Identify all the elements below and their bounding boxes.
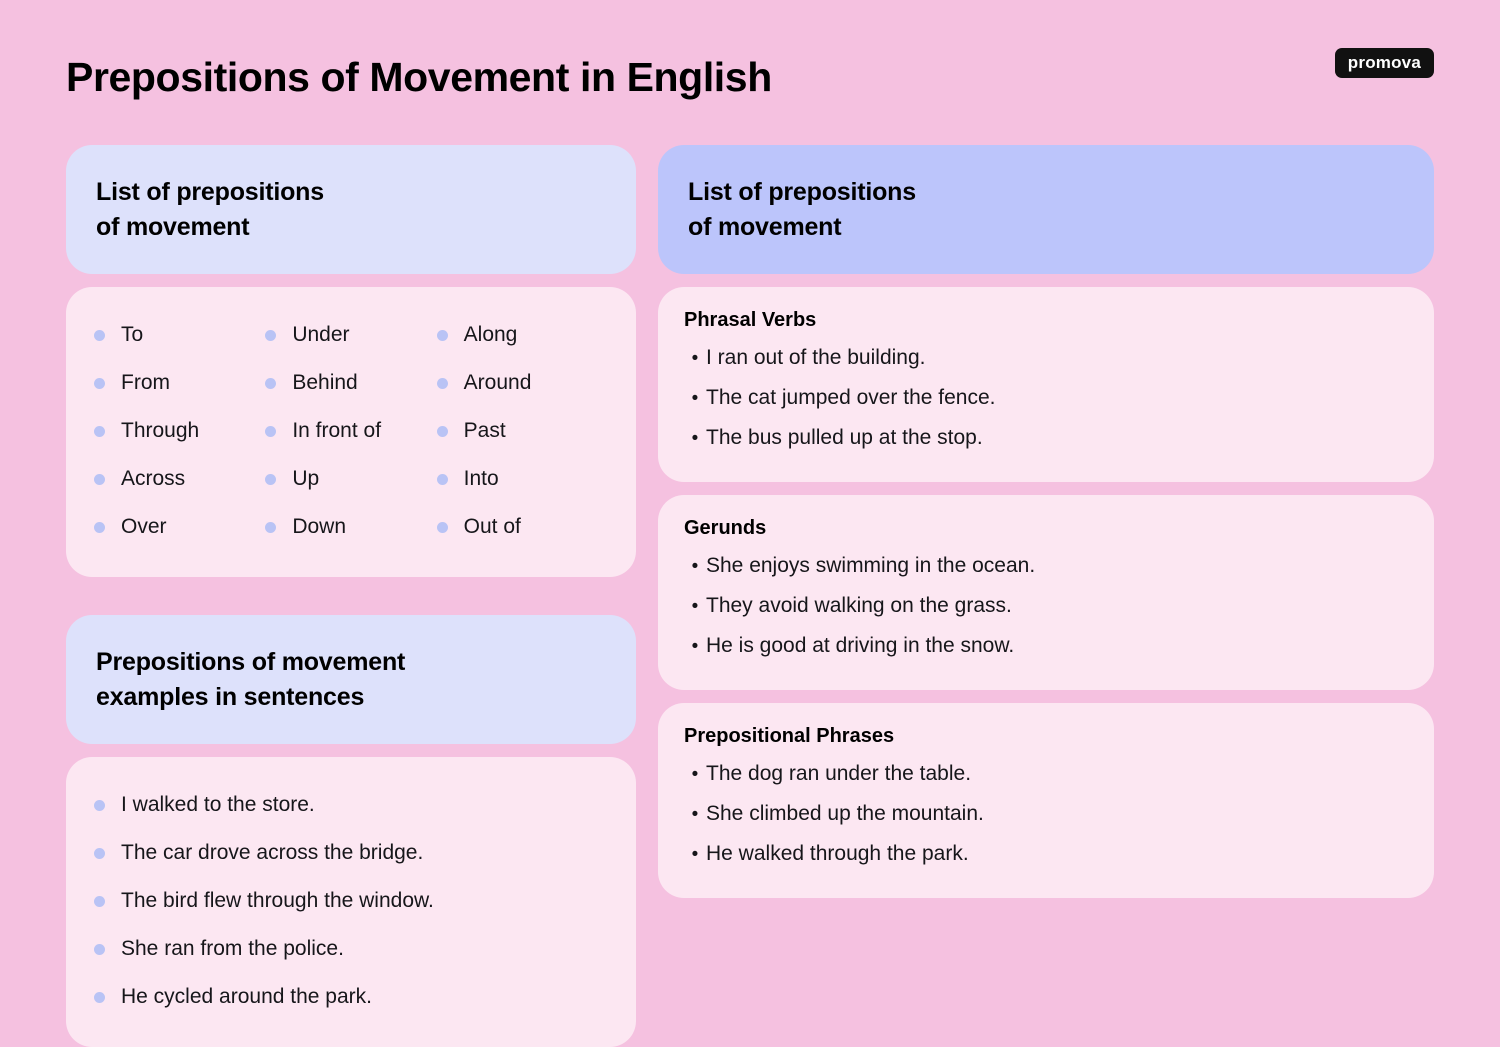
preposition-label: Through <box>121 419 199 443</box>
promova-logo: promova <box>1335 48 1434 78</box>
list-item: He cycled around the park. <box>94 973 608 1021</box>
preposition-label: Up <box>292 467 319 491</box>
bullet-dot-icon <box>265 522 276 533</box>
left-list-header-card: List of prepositions of movement <box>66 145 636 274</box>
bullet-dot-icon <box>94 992 105 1003</box>
list-item: The car drove across the bridge. <box>94 829 608 877</box>
prepositions-column-2: Under Behind In front of Up <box>265 311 436 551</box>
preposition-label: Over <box>121 515 167 539</box>
bullet-dot-icon <box>94 378 105 389</box>
left-list-header-line2: of movement <box>96 210 606 245</box>
example-sentence: She ran from the police. <box>121 937 344 961</box>
list-item: • She climbed up the mountain. <box>684 794 1408 834</box>
left-column: List of prepositions of movement To From <box>66 145 636 1047</box>
group-title: Prepositional Phrases <box>684 725 1408 748</box>
list-item: • They avoid walking on the grass. <box>684 586 1408 626</box>
bullet-dot-icon <box>265 426 276 437</box>
bullet-point-icon: • <box>684 597 706 616</box>
list-item: From <box>94 359 265 407</box>
list-item: Through <box>94 407 265 455</box>
list-item: Across <box>94 455 265 503</box>
examples-card: I walked to the store. The car drove acr… <box>66 757 636 1047</box>
list-item: • The bus pulled up at the stop. <box>684 418 1408 458</box>
bullet-dot-icon <box>94 944 105 955</box>
right-list-header-line1: List of prepositions <box>688 175 1404 210</box>
list-item: Out of <box>437 503 608 551</box>
bullet-dot-icon <box>437 522 448 533</box>
group-sentence: He walked through the park. <box>706 842 969 866</box>
bullet-dot-icon <box>265 330 276 341</box>
bullet-point-icon: • <box>684 557 706 576</box>
list-item: Past <box>437 407 608 455</box>
list-item: To <box>94 311 265 359</box>
group-title: Phrasal Verbs <box>684 309 1408 332</box>
bullet-dot-icon <box>437 378 448 389</box>
group-list: • I ran out of the building. • The cat j… <box>684 338 1408 458</box>
preposition-label: Along <box>464 323 518 347</box>
prepositions-grid: To From Through Across <box>94 311 608 551</box>
group-card-phrasal-verbs: Phrasal Verbs • I ran out of the buildin… <box>658 287 1434 482</box>
preposition-label: Behind <box>292 371 357 395</box>
list-item: Over <box>94 503 265 551</box>
list-item: Down <box>265 503 436 551</box>
list-item: • He walked through the park. <box>684 834 1408 874</box>
prepositions-column-1: To From Through Across <box>94 311 265 551</box>
preposition-label: Into <box>464 467 499 491</box>
page-header: Prepositions of Movement in English prom… <box>0 0 1500 140</box>
bullet-dot-icon <box>437 426 448 437</box>
list-item: Into <box>437 455 608 503</box>
prepositions-column-3: Along Around Past Into <box>437 311 608 551</box>
bullet-dot-icon <box>94 522 105 533</box>
preposition-label: From <box>121 371 170 395</box>
list-item: She ran from the police. <box>94 925 608 973</box>
left-list-header-line1: List of prepositions <box>96 175 606 210</box>
example-sentence: The bird flew through the window. <box>121 889 434 913</box>
examples-header-card: Prepositions of movement examples in sen… <box>66 615 636 744</box>
bullet-dot-icon <box>437 330 448 341</box>
group-sentence: The cat jumped over the fence. <box>706 386 996 410</box>
right-list-header-line2: of movement <box>688 210 1404 245</box>
list-item: Around <box>437 359 608 407</box>
group-sentence: They avoid walking on the grass. <box>706 594 1012 618</box>
group-sentence: He is good at driving in the snow. <box>706 634 1014 658</box>
bullet-point-icon: • <box>684 845 706 864</box>
example-sentence: He cycled around the park. <box>121 985 372 1009</box>
list-item: Up <box>265 455 436 503</box>
group-sentence: She enjoys swimming in the ocean. <box>706 554 1035 578</box>
list-item: The bird flew through the window. <box>94 877 608 925</box>
page-title: Prepositions of Movement in English <box>66 54 772 101</box>
bullet-point-icon: • <box>684 805 706 824</box>
preposition-label: Across <box>121 467 185 491</box>
bullet-dot-icon <box>265 378 276 389</box>
bullet-dot-icon <box>437 474 448 485</box>
list-item: • The cat jumped over the fence. <box>684 378 1408 418</box>
bullet-dot-icon <box>94 474 105 485</box>
group-card-gerunds: Gerunds • She enjoys swimming in the oce… <box>658 495 1434 690</box>
bullet-point-icon: • <box>684 765 706 784</box>
group-list: • She enjoys swimming in the ocean. • Th… <box>684 546 1408 666</box>
group-sentence: The dog ran under the table. <box>706 762 971 786</box>
bullet-point-icon: • <box>684 637 706 656</box>
preposition-label: In front of <box>292 419 381 443</box>
bullet-dot-icon <box>94 800 105 811</box>
list-item: In front of <box>265 407 436 455</box>
bullet-dot-icon <box>94 896 105 907</box>
list-item: Along <box>437 311 608 359</box>
list-item: Under <box>265 311 436 359</box>
example-sentence: The car drove across the bridge. <box>121 841 423 865</box>
preposition-label: Under <box>292 323 349 347</box>
right-column: List of prepositions of movement Phrasal… <box>658 145 1434 898</box>
example-sentence: I walked to the store. <box>121 793 315 817</box>
bullet-dot-icon <box>94 330 105 341</box>
group-title: Gerunds <box>684 517 1408 540</box>
right-list-header-card: List of prepositions of movement <box>658 145 1434 274</box>
bullet-dot-icon <box>94 848 105 859</box>
list-item: Behind <box>265 359 436 407</box>
list-item: • He is good at driving in the snow. <box>684 626 1408 666</box>
bullet-point-icon: • <box>684 429 706 448</box>
preposition-label: To <box>121 323 143 347</box>
list-item: • The dog ran under the table. <box>684 754 1408 794</box>
preposition-label: Out of <box>464 515 521 539</box>
group-card-prepositional-phrases: Prepositional Phrases • The dog ran unde… <box>658 703 1434 898</box>
group-list: • The dog ran under the table. • She cli… <box>684 754 1408 874</box>
examples-header-line1: Prepositions of movement <box>96 645 606 680</box>
preposition-label: Around <box>464 371 532 395</box>
bullet-dot-icon <box>94 426 105 437</box>
list-item: • She enjoys swimming in the ocean. <box>684 546 1408 586</box>
list-item: • I ran out of the building. <box>684 338 1408 378</box>
examples-header-line2: examples in sentences <box>96 680 606 715</box>
group-sentence: She climbed up the mountain. <box>706 802 984 826</box>
bullet-point-icon: • <box>684 389 706 408</box>
prepositions-card: To From Through Across <box>66 287 636 577</box>
group-sentence: The bus pulled up at the stop. <box>706 426 983 450</box>
list-item: I walked to the store. <box>94 781 608 829</box>
preposition-label: Past <box>464 419 506 443</box>
bullet-point-icon: • <box>684 349 706 368</box>
preposition-label: Down <box>292 515 346 539</box>
group-sentence: I ran out of the building. <box>706 346 926 370</box>
bullet-dot-icon <box>265 474 276 485</box>
